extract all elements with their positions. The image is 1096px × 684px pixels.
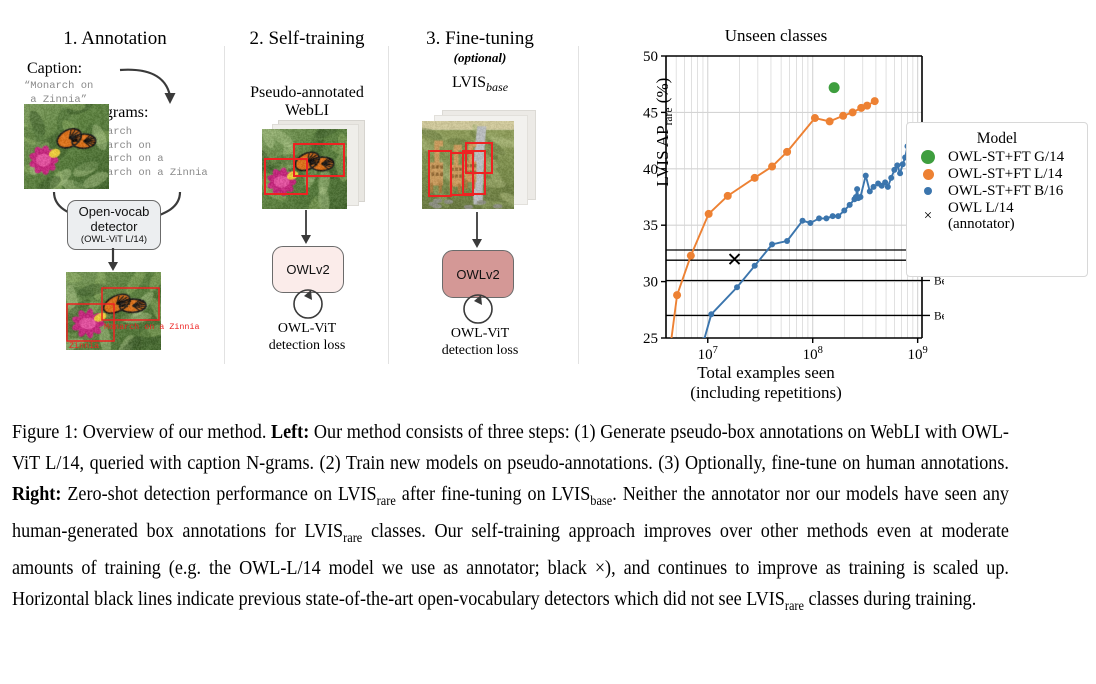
x-tick-label: 109: [908, 345, 928, 363]
step1-source-image: [24, 104, 109, 189]
chart-plot-area: Best F-VLMBest OWLBest 3WaysBest ViLD253…: [624, 38, 944, 368]
step1-caption-text: “Monarch on a Zinnia”: [24, 80, 93, 107]
caption-sub-rare-1: rare: [377, 493, 396, 508]
arrow-caption-to-ngrams: [118, 62, 188, 108]
step1-pseudo-boxes: Monarch on a Zinnia Zinnia: [60, 272, 200, 354]
step1-box-label-2: Zinnia: [69, 341, 99, 351]
step1-caption-label: Caption:: [27, 60, 82, 78]
caption-text-right-e: classes during training.: [804, 589, 976, 610]
legend-dot: [921, 150, 935, 164]
step2-owlv2-box: OWLv2: [272, 246, 344, 293]
step2-title: 2. Self-training: [228, 28, 386, 50]
detector-line-2: detector: [91, 219, 138, 234]
caption-sub-rare-2: rare: [343, 530, 362, 545]
legend-cross-icon: ×: [915, 209, 941, 224]
step2-image-stack: [258, 120, 366, 212]
step1-box-label-1: Monarch on a Zinnia: [104, 322, 200, 332]
step3-data-label: LVISbase: [396, 74, 564, 95]
step3-title: 3. Fine-tuning: [396, 28, 564, 50]
series-owl-st-ft-l-14: [666, 97, 878, 351]
step2-model-label: OWLv2: [286, 262, 329, 277]
detector-line-1: Open-vocab: [79, 204, 150, 219]
caption-bold-left: Left:: [271, 422, 309, 443]
y-tick-label: 35: [643, 218, 658, 234]
arrow-detector-to-output: [106, 248, 120, 272]
open-vocab-detector-box: Open-vocab detector (OWL-ViT L/14): [67, 200, 161, 250]
legend-label-line2: (annotator): [948, 216, 1015, 232]
hline-label: Best 3Ways: [934, 275, 944, 287]
step3-model-label: OWLv2: [456, 267, 499, 282]
step3-image-stack: [418, 110, 538, 216]
panel-divider-3: [578, 46, 579, 364]
chart-legend: Model OWL-ST+FT G/14OWL-ST+FT L/14OWL-ST…: [906, 122, 1088, 277]
legend-rows: OWL-ST+FT G/14OWL-ST+FT L/14OWL-ST+FT B/…: [915, 149, 1079, 232]
arrow-step3-data-to-model: [470, 212, 484, 250]
legend-label-line1: OWL-ST+FT B/16: [948, 183, 1063, 199]
caption-text-right-b: after fine-tuning on LVIS: [396, 484, 591, 505]
step2-loss-label: OWL-ViT detection loss: [228, 320, 386, 354]
legend-dot-icon: [915, 169, 941, 180]
step2-data-label-2: WebLI: [228, 102, 386, 120]
step1-title: 1. Annotation: [40, 28, 190, 50]
legend-label-line1: OWL-ST+FT L/14: [948, 166, 1062, 182]
caption-prefix: Figure 1: Overview of our method.: [12, 422, 271, 443]
x-tick-label: 107: [698, 345, 718, 363]
legend-dot-icon: [915, 187, 941, 195]
panel-divider-1: [224, 46, 225, 364]
arrow-step2-data-to-model: [299, 210, 313, 246]
legend-label: OWL L/14(annotator): [948, 200, 1015, 232]
step3-subtitle: (optional): [396, 50, 564, 66]
step3-loss-label: OWL-ViT detection loss: [396, 325, 564, 359]
caption-sub-rare-3: rare: [785, 598, 804, 613]
legend-label: OWL-ST+FT L/14: [948, 166, 1062, 182]
chart-region: Unseen classes LVIS APrare (%) Best F-VL…: [586, 26, 1096, 406]
panel-divider-2: [388, 46, 389, 364]
figure-root: 1. Annotation Caption: “Monarch on a Zin…: [0, 0, 1096, 684]
legend-dot-icon: [915, 150, 941, 164]
step2-loss-line-1: OWL-ViT: [228, 320, 386, 337]
x-tick-label: 108: [803, 345, 823, 363]
step3-owlv2-box: OWLv2: [442, 250, 514, 298]
caption-sub-base: base: [590, 493, 612, 508]
chart-xlabel-line1: Total examples seen: [616, 363, 916, 383]
series-owl-st-ft-g-14: [829, 82, 840, 93]
step3-self-loss-loop: [455, 293, 501, 327]
legend-item-1[interactable]: OWL-ST+FT L/14: [915, 166, 1079, 182]
hline-label: Best ViLD: [934, 310, 944, 322]
legend-label-line1: OWL-ST+FT G/14: [948, 149, 1064, 165]
step3-data-label-sub: base: [486, 80, 508, 94]
step3-data-label-main: LVIS: [452, 74, 486, 91]
series-owl-st-ft-b-16: [701, 143, 916, 343]
y-tick-label: 40: [643, 162, 658, 178]
step2-loss-line-2: detection loss: [228, 337, 386, 354]
y-tick-label: 45: [643, 105, 658, 121]
series-owl-l-14-annotator-: [730, 254, 740, 264]
step2-data-label-1: Pseudo-annotated: [228, 84, 386, 102]
step2-self-loss-loop: [285, 288, 331, 322]
chart-xlabel-line2: (including repetitions): [616, 383, 916, 403]
caption-bold-right: Right:: [12, 484, 61, 505]
y-tick-label: 25: [643, 331, 658, 347]
step3-loss-line-1: OWL-ViT: [396, 325, 564, 342]
legend-title: Model: [915, 130, 1079, 148]
y-tick-label: 30: [643, 275, 658, 291]
legend-item-3[interactable]: ×OWL L/14(annotator): [915, 200, 1079, 232]
legend-label-line1: OWL L/14: [948, 200, 1015, 216]
legend-dot: [924, 187, 932, 195]
figure-caption: Figure 1: Overview of our method. Left: …: [12, 417, 1009, 621]
caption-text-right-a: Zero-shot detection performance on LVIS: [61, 484, 376, 505]
legend-label: OWL-ST+FT B/16: [948, 183, 1063, 199]
step3-loss-line-2: detection loss: [396, 342, 564, 359]
detector-line-3: (OWL-ViT L/14): [81, 234, 147, 246]
legend-item-0[interactable]: OWL-ST+FT G/14: [915, 149, 1079, 165]
y-tick-label: 50: [643, 49, 658, 65]
legend-dot: [923, 169, 934, 180]
legend-item-2[interactable]: OWL-ST+FT B/16: [915, 183, 1079, 199]
legend-label: OWL-ST+FT G/14: [948, 149, 1064, 165]
